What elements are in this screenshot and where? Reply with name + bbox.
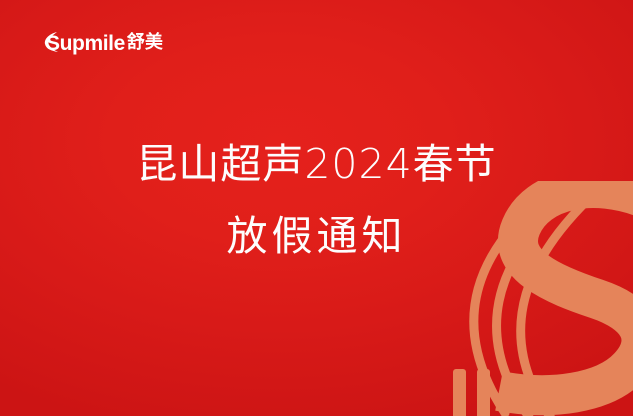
logo-latin-text: Supmile xyxy=(46,33,125,54)
logo-cjk-text: 舒美 xyxy=(127,34,163,52)
holiday-notice-banner: Supmile 舒美 昆山超声2024春节 放假通知 xyxy=(0,0,633,416)
headline-line-1: 昆山超声2024春节 xyxy=(0,128,633,200)
headline-line-2: 放假通知 xyxy=(0,200,633,272)
brand-logo: Supmile 舒美 xyxy=(46,30,163,56)
headline: 昆山超声2024春节 放假通知 xyxy=(0,128,633,272)
